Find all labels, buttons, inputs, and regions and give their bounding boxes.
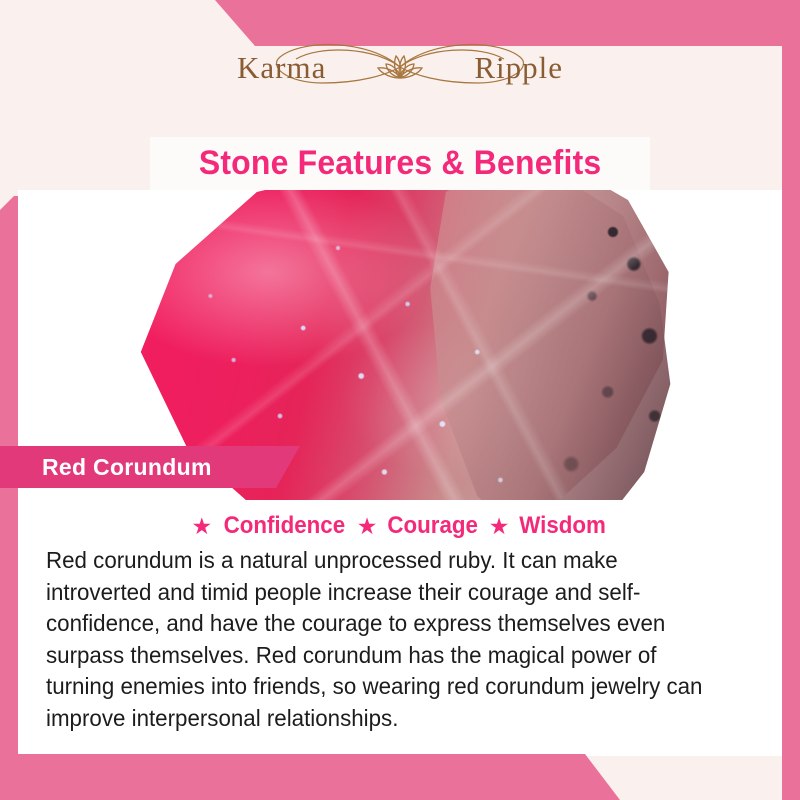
- brand-logo: [0, 28, 800, 108]
- title-band: Stone Features & Benefits: [150, 137, 650, 190]
- benefit-confidence: Confidence: [224, 512, 346, 540]
- frame-accent-right: [782, 0, 800, 800]
- star-icon-2: ★: [357, 513, 378, 540]
- lotus-flourish-icon: [250, 33, 550, 103]
- star-icon-3: ★: [489, 513, 510, 540]
- content-card: ★Confidence★Courage★Wisdom Red corundum …: [18, 500, 782, 756]
- benefits-row: ★Confidence★Courage★Wisdom: [18, 512, 782, 540]
- infographic-page: KarmaRipple Stone Features & Benefits Re…: [0, 0, 800, 800]
- benefit-wisdom: Wisdom: [520, 512, 607, 540]
- page-title: Stone Features & Benefits: [199, 144, 602, 183]
- benefit-courage: Courage: [388, 512, 479, 540]
- stone-description: Red corundum is a natural unprocessed ru…: [46, 545, 722, 734]
- stone-name-label: Red Corundum: [42, 454, 212, 481]
- star-icon-1: ★: [191, 513, 212, 540]
- frame-accent-left: [0, 196, 18, 800]
- stone-name-banner: Red Corundum: [0, 446, 300, 488]
- lotus-flower-icon: [378, 56, 422, 78]
